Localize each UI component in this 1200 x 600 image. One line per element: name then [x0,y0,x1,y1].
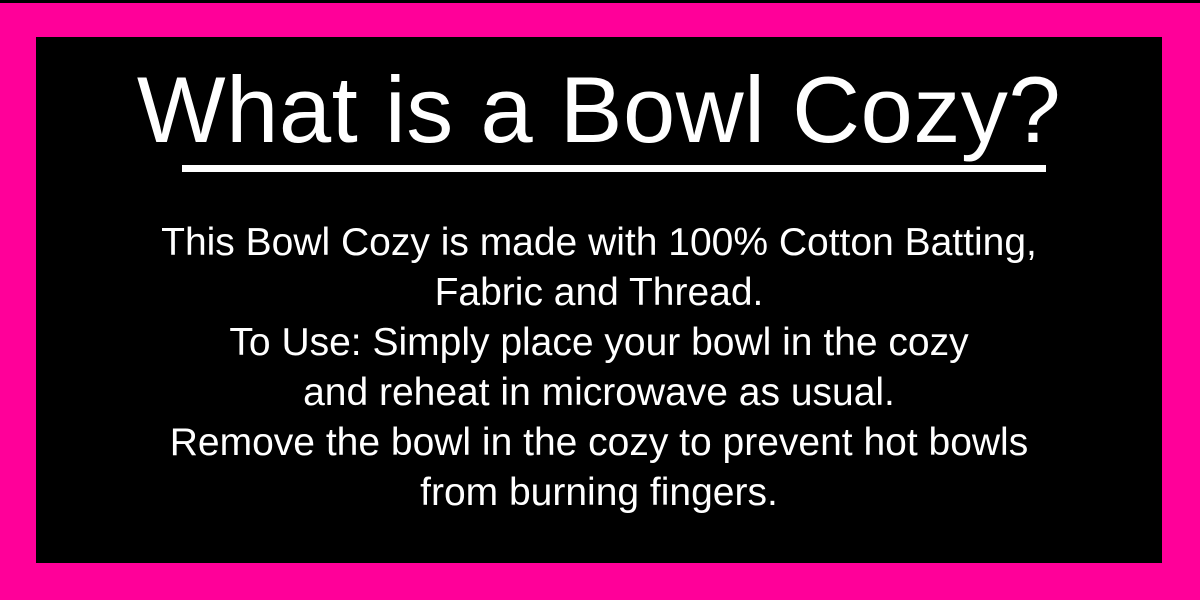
title-block: What is a Bowl Cozy? [36,62,1162,158]
poster-canvas: What is a Bowl Cozy? This Bowl Cozy is m… [0,0,1200,600]
page-title: What is a Bowl Cozy? [36,62,1162,158]
body-line-1: This Bowl Cozy is made with 100% Cotton … [36,218,1162,268]
content-panel: What is a Bowl Cozy? This Bowl Cozy is m… [36,37,1162,563]
body-line-4: and reheat in microwave as usual. [36,368,1162,418]
body-line-3: To Use: Simply place your bowl in the co… [36,318,1162,368]
body-line-2: Fabric and Thread. [36,268,1162,318]
body-text-block: This Bowl Cozy is made with 100% Cotton … [36,218,1162,518]
title-underline-rule [182,165,1046,172]
body-line-5: Remove the bowl in the cozy to prevent h… [36,418,1162,468]
body-line-6: from burning fingers. [36,468,1162,518]
